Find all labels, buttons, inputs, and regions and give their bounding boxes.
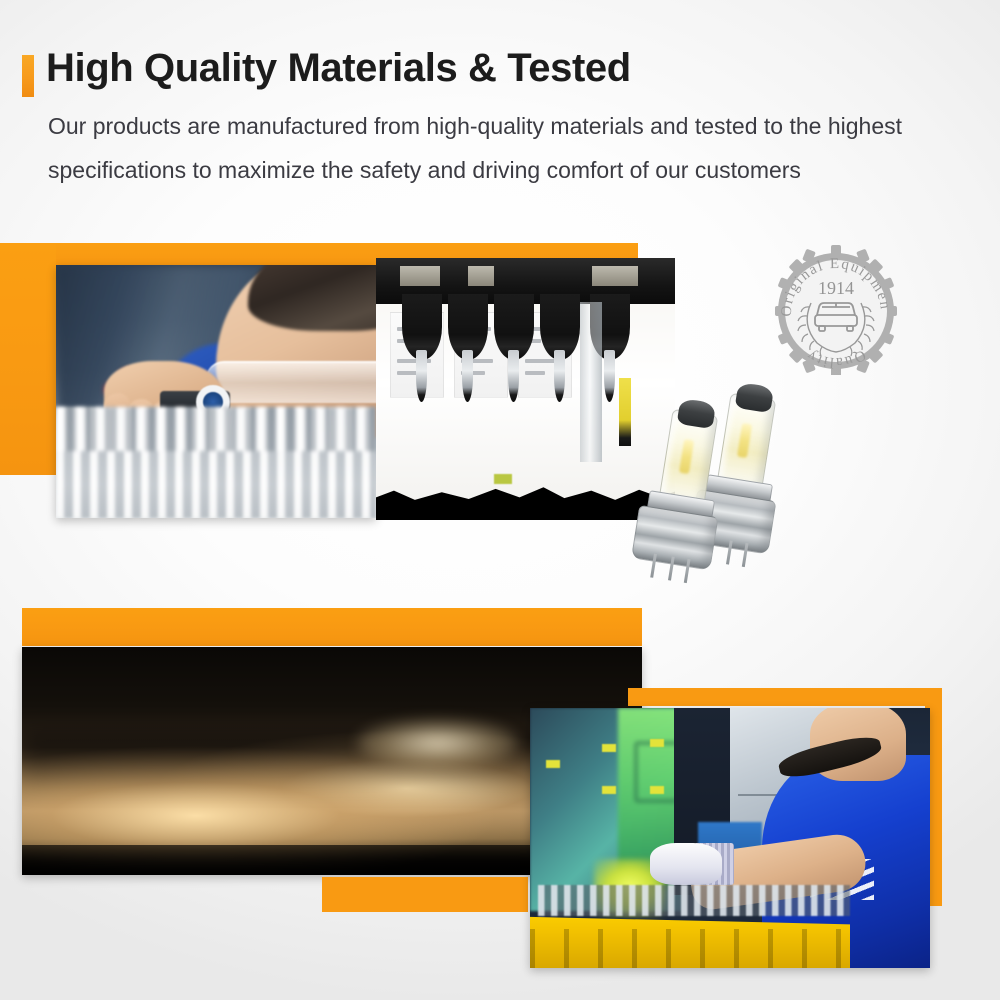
orange-bar-beam-bottom bbox=[322, 877, 528, 912]
page-subtitle: Our products are manufactured from high-… bbox=[48, 104, 988, 192]
orange-bar-left bbox=[0, 243, 56, 475]
machine-label bbox=[400, 266, 440, 286]
quality-original-equipment-seal: Original Equipment Quality 1914 bbox=[775, 245, 897, 375]
needle-probe bbox=[508, 350, 519, 402]
yellow-label bbox=[602, 786, 616, 794]
bulb-base bbox=[631, 505, 718, 571]
needle-probe bbox=[462, 350, 473, 402]
yellow-label bbox=[650, 739, 664, 747]
header: High Quality Materials & Tested Our prod… bbox=[0, 0, 1000, 215]
machine-label bbox=[592, 266, 638, 286]
needle-probe bbox=[604, 350, 615, 402]
needle-probe bbox=[416, 350, 427, 402]
bulbs-in-tray bbox=[538, 885, 850, 916]
yellow-label bbox=[650, 786, 664, 794]
work-glove bbox=[650, 843, 722, 885]
yellow-label bbox=[546, 760, 560, 768]
seal-year: 1914 bbox=[818, 278, 854, 298]
infographic-page: High Quality Materials & Tested Our prod… bbox=[0, 0, 1000, 1000]
bulb-array bbox=[56, 407, 376, 518]
quality-inspection-photo bbox=[56, 265, 376, 518]
safety-glasses-icon bbox=[206, 361, 376, 403]
orange-bar-beam-top bbox=[22, 608, 642, 646]
factory-worker-photo bbox=[530, 708, 930, 968]
orange-bar-assembly-top bbox=[628, 688, 942, 706]
machine-label bbox=[468, 266, 494, 286]
green-indicator bbox=[494, 474, 512, 484]
halogen-bulb-pair-product-shot bbox=[620, 382, 820, 572]
yellow-label bbox=[602, 744, 616, 752]
glass-column bbox=[580, 302, 602, 462]
worker-hair bbox=[248, 265, 376, 331]
title-accent-bar bbox=[22, 55, 34, 97]
page-title: High Quality Materials & Tested bbox=[46, 46, 631, 91]
beam-hotspot bbox=[357, 720, 518, 766]
needle-probe bbox=[554, 350, 565, 402]
